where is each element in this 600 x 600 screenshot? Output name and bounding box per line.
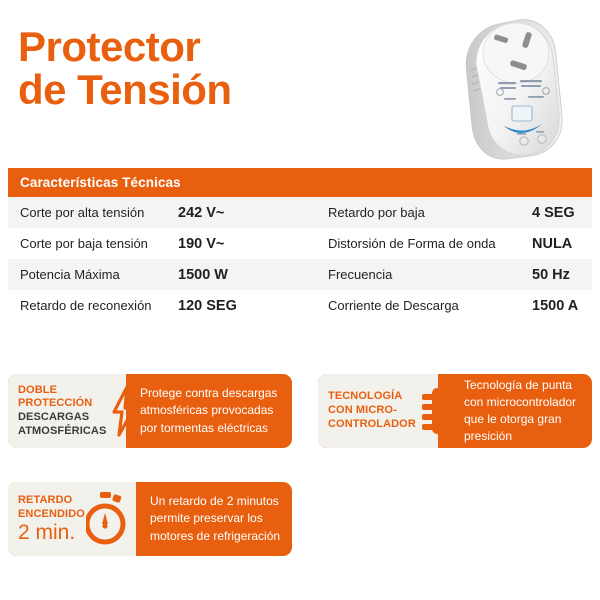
table-row: Corte por alta tensión 242 V~ Retardo po… (8, 197, 592, 228)
badge-big-value: 2 min. (18, 522, 85, 544)
badge-line: DESCARGAS (18, 411, 106, 425)
feature-badge: DOBLE PROTECCIÓN DESCARGAS ATMOSFÉRICAS (8, 374, 126, 448)
badge-line: CON MICRO- (328, 404, 416, 418)
table-row: Potencia Máxima 1500 W Frecuencia 50 Hz (8, 259, 592, 290)
table-cell-right: Frecuencia 50 Hz (300, 259, 592, 290)
feature-description: Protege contra descargas atmosféricas pr… (126, 374, 292, 448)
feature-retardo-encendido: RETARDO ENCENDIDO 2 min. Un retardo de 2… (8, 482, 292, 556)
badge-line: DOBLE (18, 384, 106, 398)
page-title: Protector de Tensión (18, 26, 418, 112)
product-photo (432, 8, 592, 163)
microchip-icon (420, 374, 454, 448)
spec-value: 4 SEG (532, 205, 575, 221)
spec-label: Corriente de Descarga (300, 298, 528, 313)
table-cell-right: Corriente de Descarga 1500 A (300, 290, 592, 321)
lightning-bolt-icon (106, 385, 142, 437)
feature-badge: RETARDO ENCENDIDO 2 min. (8, 482, 136, 556)
feature-tecnologia-microcontrolador: TECNOLOGÍA CON MICRO- CONTROLADOR Tecnol… (318, 374, 592, 448)
table-cell-right: Distorsión de Forma de onda NULA (300, 228, 592, 259)
voltage-protector-plug-photo (432, 8, 592, 163)
spec-table: Características Técnicas Corte por alta … (8, 168, 592, 321)
spec-label: Retardo por baja (300, 205, 528, 220)
badge-line: CONTROLADOR (328, 418, 416, 432)
table-cell-left: Corte por baja tensión 190 V~ (8, 228, 300, 259)
table-row: Retardo de reconexión 120 SEG Corriente … (8, 290, 592, 321)
badge-line: RETARDO (18, 494, 85, 508)
spec-label: Potencia Máxima (8, 267, 170, 282)
page-title-line-1: Protector (18, 26, 418, 69)
stopwatch-icon (85, 491, 129, 547)
table-cell-left: Corte por alta tensión 242 V~ (8, 197, 300, 228)
spec-table-body: Corte por alta tensión 242 V~ Retardo po… (8, 197, 592, 321)
spec-value: 190 V~ (178, 236, 224, 252)
feature-badge-text: DOBLE PROTECCIÓN DESCARGAS ATMOSFÉRICAS (8, 384, 106, 439)
badge-line: ATMOSFÉRICAS (18, 425, 106, 439)
feature-badge-text: RETARDO ENCENDIDO 2 min. (8, 494, 85, 544)
feature-description: Un retardo de 2 minutos permite preserva… (136, 482, 292, 556)
page-title-line-2: de Tensión (18, 69, 418, 112)
spec-table-header: Características Técnicas (8, 168, 592, 197)
spec-label: Frecuencia (300, 267, 528, 282)
spec-value: NULA (532, 236, 572, 252)
table-cell-left: Potencia Máxima 1500 W (8, 259, 300, 290)
spec-label: Corte por baja tensión (8, 236, 170, 251)
spec-value: 1500 W (178, 267, 228, 283)
spec-value: 50 Hz (532, 267, 570, 283)
spec-value: 120 SEG (178, 298, 237, 314)
feature-description: Tecnología de punta con microcontrolador… (438, 374, 592, 448)
feature-badge-text: TECNOLOGÍA CON MICRO- CONTROLADOR (318, 390, 416, 431)
feature-doble-proteccion: DOBLE PROTECCIÓN DESCARGAS ATMOSFÉRICAS … (8, 374, 292, 448)
badge-line: PROTECCIÓN (18, 397, 106, 411)
spec-label: Retardo de reconexión (8, 298, 170, 313)
spec-value: 242 V~ (178, 205, 224, 221)
spec-label: Distorsión de Forma de onda (300, 236, 528, 251)
spec-value: 1500 A (532, 298, 578, 314)
badge-line: ENCENDIDO (18, 508, 85, 522)
table-cell-left: Retardo de reconexión 120 SEG (8, 290, 300, 321)
badge-line: TECNOLOGÍA (328, 390, 416, 404)
table-cell-right: Retardo por baja 4 SEG (300, 197, 592, 228)
spec-label: Corte por alta tensión (8, 205, 170, 220)
table-row: Corte por baja tensión 190 V~ Distorsión… (8, 228, 592, 259)
